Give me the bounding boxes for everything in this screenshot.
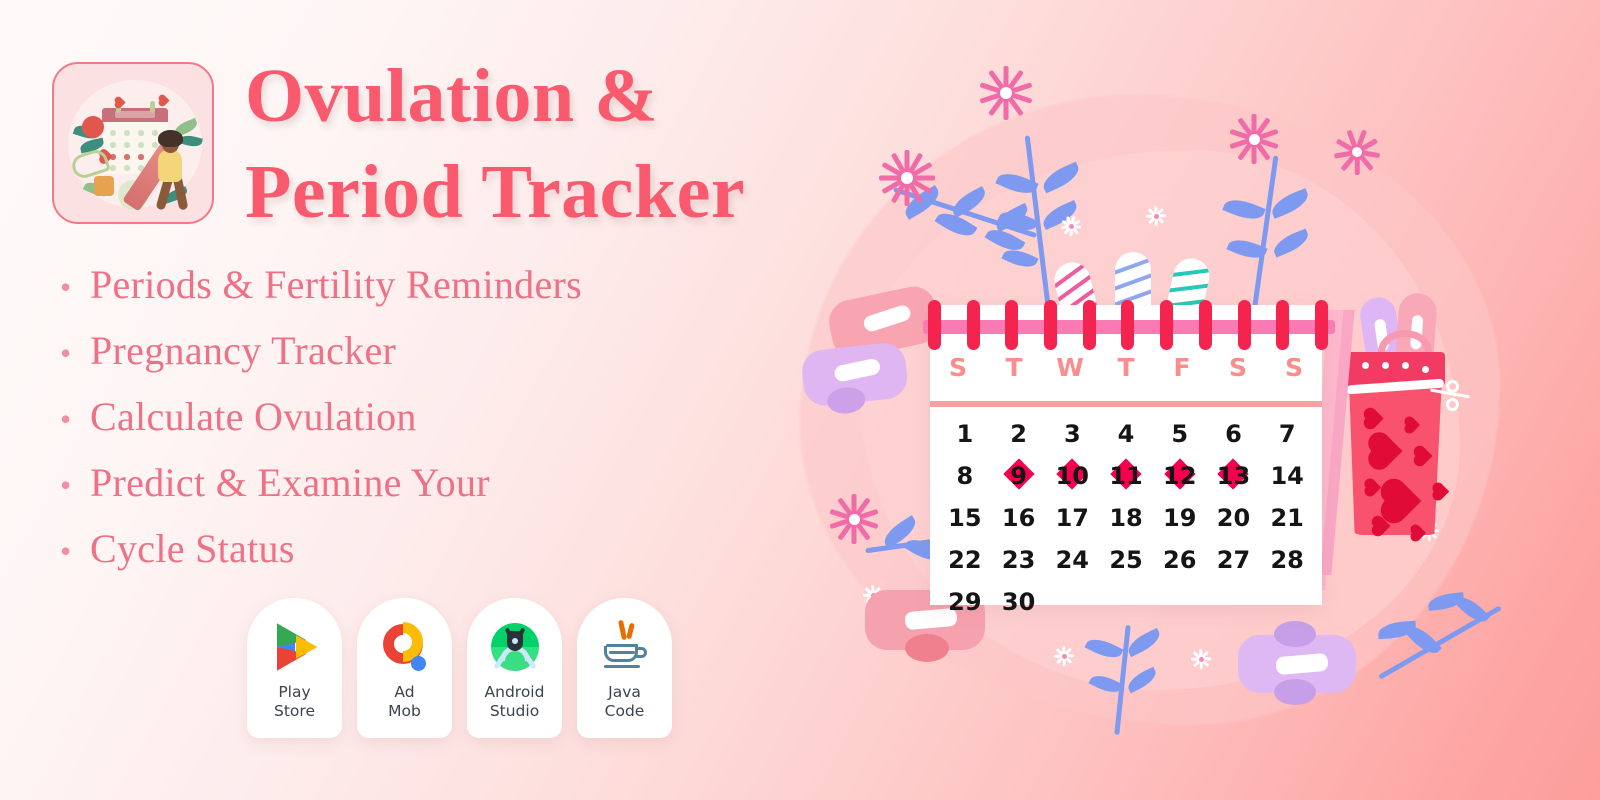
list-item: • Periods & Fertility Reminders xyxy=(60,252,760,318)
binding-ring-icon xyxy=(1238,300,1251,350)
bullet-icon: • xyxy=(60,271,70,303)
calendar-week-row: 15 16 17 18 19 20 21 xyxy=(938,497,1314,539)
badge-caption: Ad Mob xyxy=(388,683,421,721)
badge-android-studio[interactable]: Android Studio xyxy=(467,598,562,738)
badge-line-2: Code xyxy=(605,702,645,721)
calendar-day-cell[interactable]: 28 xyxy=(1260,546,1314,574)
calendar-divider xyxy=(930,401,1322,407)
calendar-day-cell-fertile[interactable]: 11 xyxy=(1099,462,1153,490)
small-flower-icon xyxy=(1145,205,1167,227)
binding-ring-icon xyxy=(1160,300,1173,350)
calendar-week-row: 22 23 24 25 26 27 28 xyxy=(938,539,1314,581)
bullet-icon: • xyxy=(60,535,70,567)
day-header: S xyxy=(930,353,986,382)
calendar-day-cell[interactable]: 2 xyxy=(992,420,1046,448)
calendar-day-cell[interactable]: 16 xyxy=(992,504,1046,532)
title-line-1: Ovulation & xyxy=(245,54,658,138)
feature-label: Pregnancy Tracker xyxy=(90,318,396,384)
day-header: T xyxy=(986,353,1042,382)
small-flower-icon xyxy=(1190,648,1212,670)
calendar-day-cell-fertile[interactable]: 10 xyxy=(1045,462,1099,490)
badge-play-store[interactable]: Play Store xyxy=(247,598,342,738)
badge-line-1: Ad xyxy=(388,683,421,702)
calendar-week-row: 8 9 10 11 12 13 14 xyxy=(938,455,1314,497)
badge-line-1: Java xyxy=(605,683,645,702)
list-item: • Cycle Status xyxy=(60,516,760,582)
binding-ring-icon xyxy=(1044,300,1057,350)
calendar-day-cell[interactable]: 8 xyxy=(938,462,992,490)
badge-line-2: Mob xyxy=(388,702,421,721)
flower-icon xyxy=(875,146,939,210)
calendar-day-cell[interactable]: 3 xyxy=(1045,420,1099,448)
binding-ring-icon xyxy=(967,300,980,350)
calendar-day-cell[interactable]: 7 xyxy=(1260,420,1314,448)
calendar-day-cell[interactable]: 6 xyxy=(1207,420,1261,448)
day-header: S xyxy=(1210,353,1266,382)
calendar-day-cell[interactable]: 24 xyxy=(1045,546,1099,574)
tech-badge-row: Play Store Ad Mob Android St xyxy=(247,598,672,738)
calendar-day-cell[interactable]: 5 xyxy=(1153,420,1207,448)
feature-list: • Periods & Fertility Reminders • Pregna… xyxy=(60,252,760,582)
badge-line-2: Studio xyxy=(485,702,545,721)
admob-icon xyxy=(378,620,432,674)
calendar-week-row: 29 30 xyxy=(938,581,1314,623)
feature-label: Cycle Status xyxy=(90,516,295,582)
android-studio-icon xyxy=(488,620,542,674)
calendar-day-cell[interactable]: 29 xyxy=(938,588,992,616)
bullet-icon: • xyxy=(60,469,70,501)
pouch-tie-loop xyxy=(1446,398,1459,411)
calendar-day-cell[interactable]: 27 xyxy=(1207,546,1261,574)
bullet-icon: • xyxy=(60,337,70,369)
list-item: • Pregnancy Tracker xyxy=(60,318,760,384)
app-icon-illustration xyxy=(54,64,212,222)
calendar-day-cell[interactable]: 23 xyxy=(992,546,1046,574)
day-header: F xyxy=(1154,353,1210,382)
day-header: S xyxy=(1266,353,1322,382)
binding-ring-icon xyxy=(928,300,941,350)
badge-caption: Play Store xyxy=(274,683,315,721)
page-title: Ovulation & Period Tracker xyxy=(245,48,785,240)
java-icon xyxy=(598,620,652,674)
binding-ring-icon xyxy=(1199,300,1212,350)
list-item: • Predict & Examine Your xyxy=(60,450,760,516)
badge-caption: Android Studio xyxy=(485,683,545,721)
calendar-day-cell[interactable]: 22 xyxy=(938,546,992,574)
calendar-day-cell[interactable]: 14 xyxy=(1260,462,1314,490)
flower-icon xyxy=(975,62,1037,124)
day-header: W xyxy=(1042,353,1098,382)
binding-ring-icon xyxy=(1083,300,1096,350)
calendar-grid: 1 2 3 4 5 6 7 8 9 10 11 12 13 14 15 16 1… xyxy=(930,413,1322,623)
badge-line-1: Android xyxy=(485,683,545,702)
hero-illustration: S T W T F S S 1 2 3 4 5 6 7 8 9 10 11 xyxy=(770,0,1600,800)
play-store-icon xyxy=(268,620,322,674)
binding-ring-icon xyxy=(1315,300,1328,350)
calendar-day-cell[interactable]: 20 xyxy=(1207,504,1261,532)
calendar-day-cell[interactable]: 26 xyxy=(1153,546,1207,574)
calendar-day-cell[interactable]: 18 xyxy=(1099,504,1153,532)
flower-icon xyxy=(825,490,883,548)
calendar-day-cell-fertile[interactable]: 13 xyxy=(1207,462,1261,490)
small-flower-icon xyxy=(1060,215,1082,237)
left-content-panel: Ovulation & Period Tracker • Periods & F… xyxy=(0,0,790,800)
calendar-card: S T W T F S S 1 2 3 4 5 6 7 8 9 10 11 xyxy=(930,305,1322,605)
binding-ring-icon xyxy=(1276,300,1289,350)
binding-ring-icon xyxy=(1121,300,1134,350)
flower-icon xyxy=(1330,125,1384,179)
flower-icon xyxy=(1225,110,1283,168)
badge-caption: Java Code xyxy=(605,683,645,721)
calendar-day-cell[interactable]: 30 xyxy=(992,588,1046,616)
day-header: T xyxy=(1098,353,1154,382)
calendar-day-cell[interactable]: 15 xyxy=(938,504,992,532)
calendar-binding-rings xyxy=(928,300,1328,350)
list-item: • Calculate Ovulation xyxy=(60,384,760,450)
badge-line-2: Store xyxy=(274,702,315,721)
calendar-week-row: 1 2 3 4 5 6 7 xyxy=(938,413,1314,455)
feature-label: Periods & Fertility Reminders xyxy=(90,252,582,318)
title-line-2: Period Tracker xyxy=(245,144,785,240)
pouch-tie-loop xyxy=(1446,380,1459,393)
binding-ring-icon xyxy=(1005,300,1018,350)
calendar-day-cell[interactable]: 25 xyxy=(1099,546,1153,574)
calendar-day-cell[interactable]: 19 xyxy=(1153,504,1207,532)
badge-line-1: Play xyxy=(274,683,315,702)
feature-label: Calculate Ovulation xyxy=(90,384,417,450)
calendar-day-cell-fertile[interactable]: 12 xyxy=(1153,462,1207,490)
calendar-day-cell[interactable]: 21 xyxy=(1260,504,1314,532)
calendar-day-cell[interactable]: 1 xyxy=(938,420,992,448)
feature-label: Predict & Examine Your xyxy=(90,450,490,516)
calendar-day-cell[interactable]: 17 xyxy=(1045,504,1099,532)
badge-java-code[interactable]: Java Code xyxy=(577,598,672,738)
badge-admob[interactable]: Ad Mob xyxy=(357,598,452,738)
bullet-icon: • xyxy=(60,403,70,435)
calendar-day-cell-fertile[interactable]: 9 xyxy=(992,462,1046,490)
app-icon[interactable] xyxy=(52,62,214,224)
calendar-day-cell[interactable]: 4 xyxy=(1099,420,1153,448)
small-flower-icon xyxy=(1053,645,1075,667)
